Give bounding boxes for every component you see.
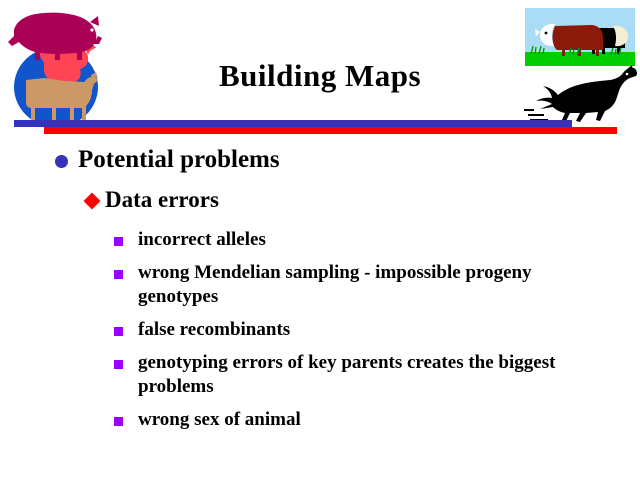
list-item: incorrect alleles <box>114 228 614 252</box>
divider-red <box>44 127 617 134</box>
square-bullet-icon <box>114 327 123 336</box>
bullet-level3-label: incorrect alleles <box>138 228 614 252</box>
square-bullet-icon <box>114 237 123 246</box>
bullet-level2-label: Data errors <box>105 186 626 214</box>
bullet-level1-potential-problems: Potential problems <box>55 145 615 175</box>
slide-body: Potential problems Data errors incorrect… <box>0 140 640 480</box>
circle-bullet-icon <box>55 155 68 168</box>
diamond-bullet-icon <box>84 193 101 210</box>
bullet-level3-list: incorrect alleles wrong Mendelian sampli… <box>114 228 614 441</box>
galloping-horse-silhouette-icon <box>522 64 638 126</box>
divider-blue <box>14 120 572 127</box>
slide-header: Building Maps <box>0 0 640 140</box>
bullet-level2-data-errors: Data errors <box>86 186 626 214</box>
cattle-pasture-photo <box>525 8 635 66</box>
bullet-level3-label: genotyping errors of key parents creates… <box>138 351 614 399</box>
bullet-level3-label: false recombinants <box>138 318 614 342</box>
square-bullet-icon <box>114 360 123 369</box>
square-bullet-icon <box>114 270 123 279</box>
list-item: genotyping errors of key parents creates… <box>114 351 614 399</box>
list-item: false recombinants <box>114 318 614 342</box>
bullet-level3-label: wrong sex of animal <box>138 408 614 432</box>
bullet-level3-label: wrong Mendelian sampling - impossible pr… <box>138 261 614 309</box>
list-item: wrong sex of animal <box>114 408 614 432</box>
square-bullet-icon <box>114 417 123 426</box>
list-item: wrong Mendelian sampling - impossible pr… <box>114 261 614 309</box>
bullet-level1-label: Potential problems <box>78 145 615 175</box>
